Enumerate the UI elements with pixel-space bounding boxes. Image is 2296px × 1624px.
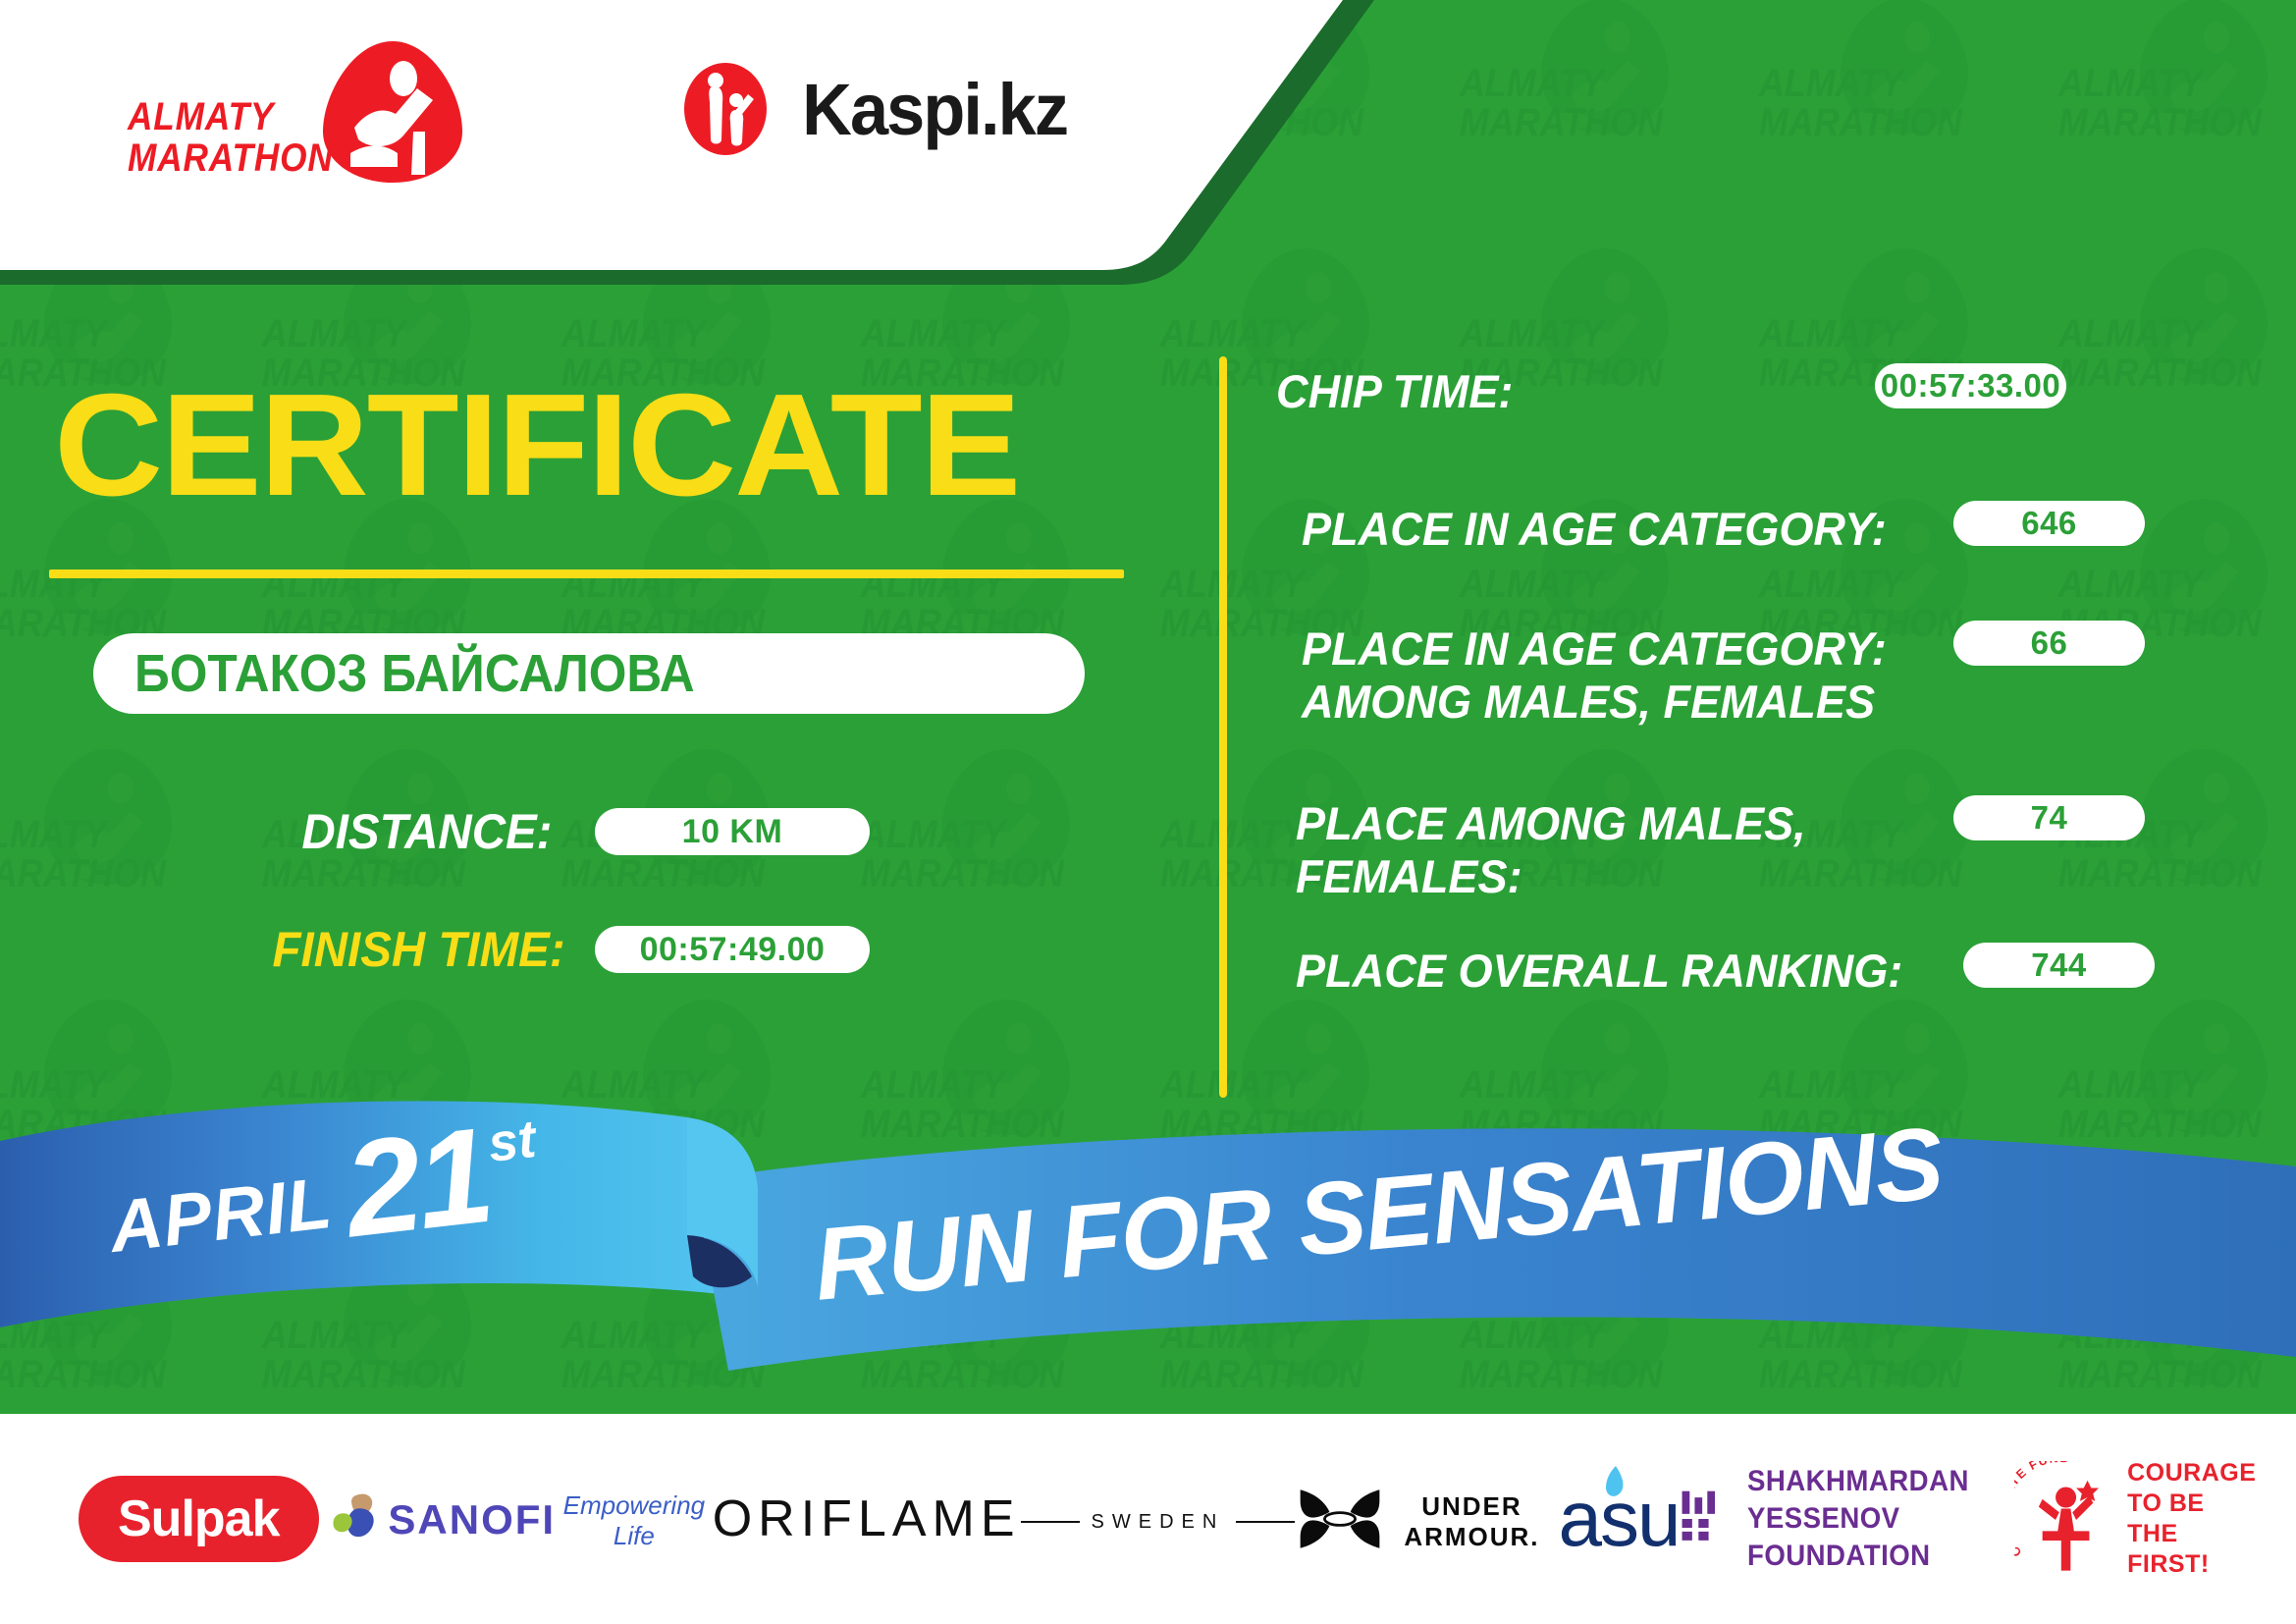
sponsor-courage-fund: CORPORATE FUND COURAGE TO BE THE FIRST! xyxy=(2014,1458,2261,1580)
sanofi-leaf-icon xyxy=(319,1487,389,1551)
distance-label: DISTANCE: xyxy=(273,803,553,860)
title-divider xyxy=(49,569,1124,578)
finish-time-label: FINISH TIME: xyxy=(273,921,553,978)
sponsor-strip: Sulpak SANOFI Empowering Life ORIFLAME S… xyxy=(0,1414,2296,1624)
sponsor-under-armour: UNDER ARMOUR. xyxy=(1295,1474,1558,1564)
courage-line-3: THE FIRST! xyxy=(2127,1519,2261,1580)
oriflame-country: SWEDEN xyxy=(1092,1511,1225,1534)
oriflame-rule-left xyxy=(1021,1521,1080,1523)
stat-value: 74 xyxy=(1953,795,2145,840)
yessenov-line-1: SHAKHMARDAN YESSENOV xyxy=(1747,1463,1993,1538)
oriflame-wordmark: ORIFLAME xyxy=(713,1489,1021,1548)
stat-value: 646 xyxy=(1953,501,2145,546)
finish-time-value: 00:57:49.00 xyxy=(595,926,870,973)
event-day-suffix: st xyxy=(486,1112,539,1170)
stat-value: 00:57:33.00 xyxy=(1875,363,2066,408)
under-armour-icon xyxy=(1295,1474,1385,1564)
stat-value: 66 xyxy=(1953,621,2145,666)
under-armour-wordmark: UNDER ARMOUR. xyxy=(1385,1491,1558,1552)
stat-label: PLACE IN AGE CATEGORY: xyxy=(1302,503,1887,556)
yessenov-bars-icon xyxy=(1680,1474,1727,1564)
sponsor-asu: asu xyxy=(1559,1474,1680,1564)
oriflame-rule-right xyxy=(1236,1521,1295,1523)
event-day: 21 xyxy=(340,1116,495,1250)
sulpak-logo: Sulpak xyxy=(79,1476,319,1562)
courage-wordmark: COURAGE TO BE THE FIRST! xyxy=(2127,1458,2261,1580)
stat-label: PLACE IN AGE CATEGORY:AMONG MALES, FEMAL… xyxy=(1302,623,1904,729)
event-month: APRIL xyxy=(105,1161,336,1269)
courage-line-2: TO BE xyxy=(2127,1489,2261,1519)
distance-value: 10 KM xyxy=(595,808,870,855)
stat-label: CHIP TIME: xyxy=(1276,365,1804,418)
participant-name-field: БОТАКОЗ БАЙСАЛОВА xyxy=(93,633,1085,714)
stat-label: PLACE OVERALL RANKING: xyxy=(1296,945,1902,998)
participant-name: БОТАКОЗ БАЙСАЛОВА xyxy=(134,643,695,704)
stat-value: 744 xyxy=(1963,943,2155,988)
sponsor-oriflame: ORIFLAME SWEDEN xyxy=(713,1489,1296,1548)
sponsor-yessenov: SHAKHMARDAN YESSENOV FOUNDATION xyxy=(1680,1463,2015,1575)
distance-row: DISTANCE: 10 KM xyxy=(265,803,952,860)
courage-figure-icon: CORPORATE FUND xyxy=(2014,1461,2117,1577)
courage-line-1: COURAGE xyxy=(2127,1458,2261,1489)
sanofi-tagline: Empowering Life xyxy=(556,1490,713,1551)
asu-droplet-icon xyxy=(1600,1464,1629,1511)
finish-time-row: FINISH TIME: 00:57:49.00 xyxy=(265,921,952,978)
yessenov-line-2: FOUNDATION xyxy=(1747,1538,1993,1575)
certificate-title: CERTIFICATE xyxy=(54,373,1019,518)
oriflame-sub: SWEDEN xyxy=(1021,1511,1296,1534)
column-divider xyxy=(1219,356,1227,1098)
sponsor-sulpak: Sulpak xyxy=(79,1476,319,1562)
certificate-canvas: ALMATY MARATHON ALMATY MAR xyxy=(0,0,2296,1624)
yessenov-wordmark: SHAKHMARDAN YESSENOV FOUNDATION xyxy=(1747,1463,1993,1575)
sanofi-wordmark: SANOFI xyxy=(388,1496,556,1543)
stat-label: PLACE AMONG MALES,FEMALES: xyxy=(1296,797,1898,903)
sponsor-sanofi: SANOFI Empowering Life xyxy=(319,1487,713,1551)
